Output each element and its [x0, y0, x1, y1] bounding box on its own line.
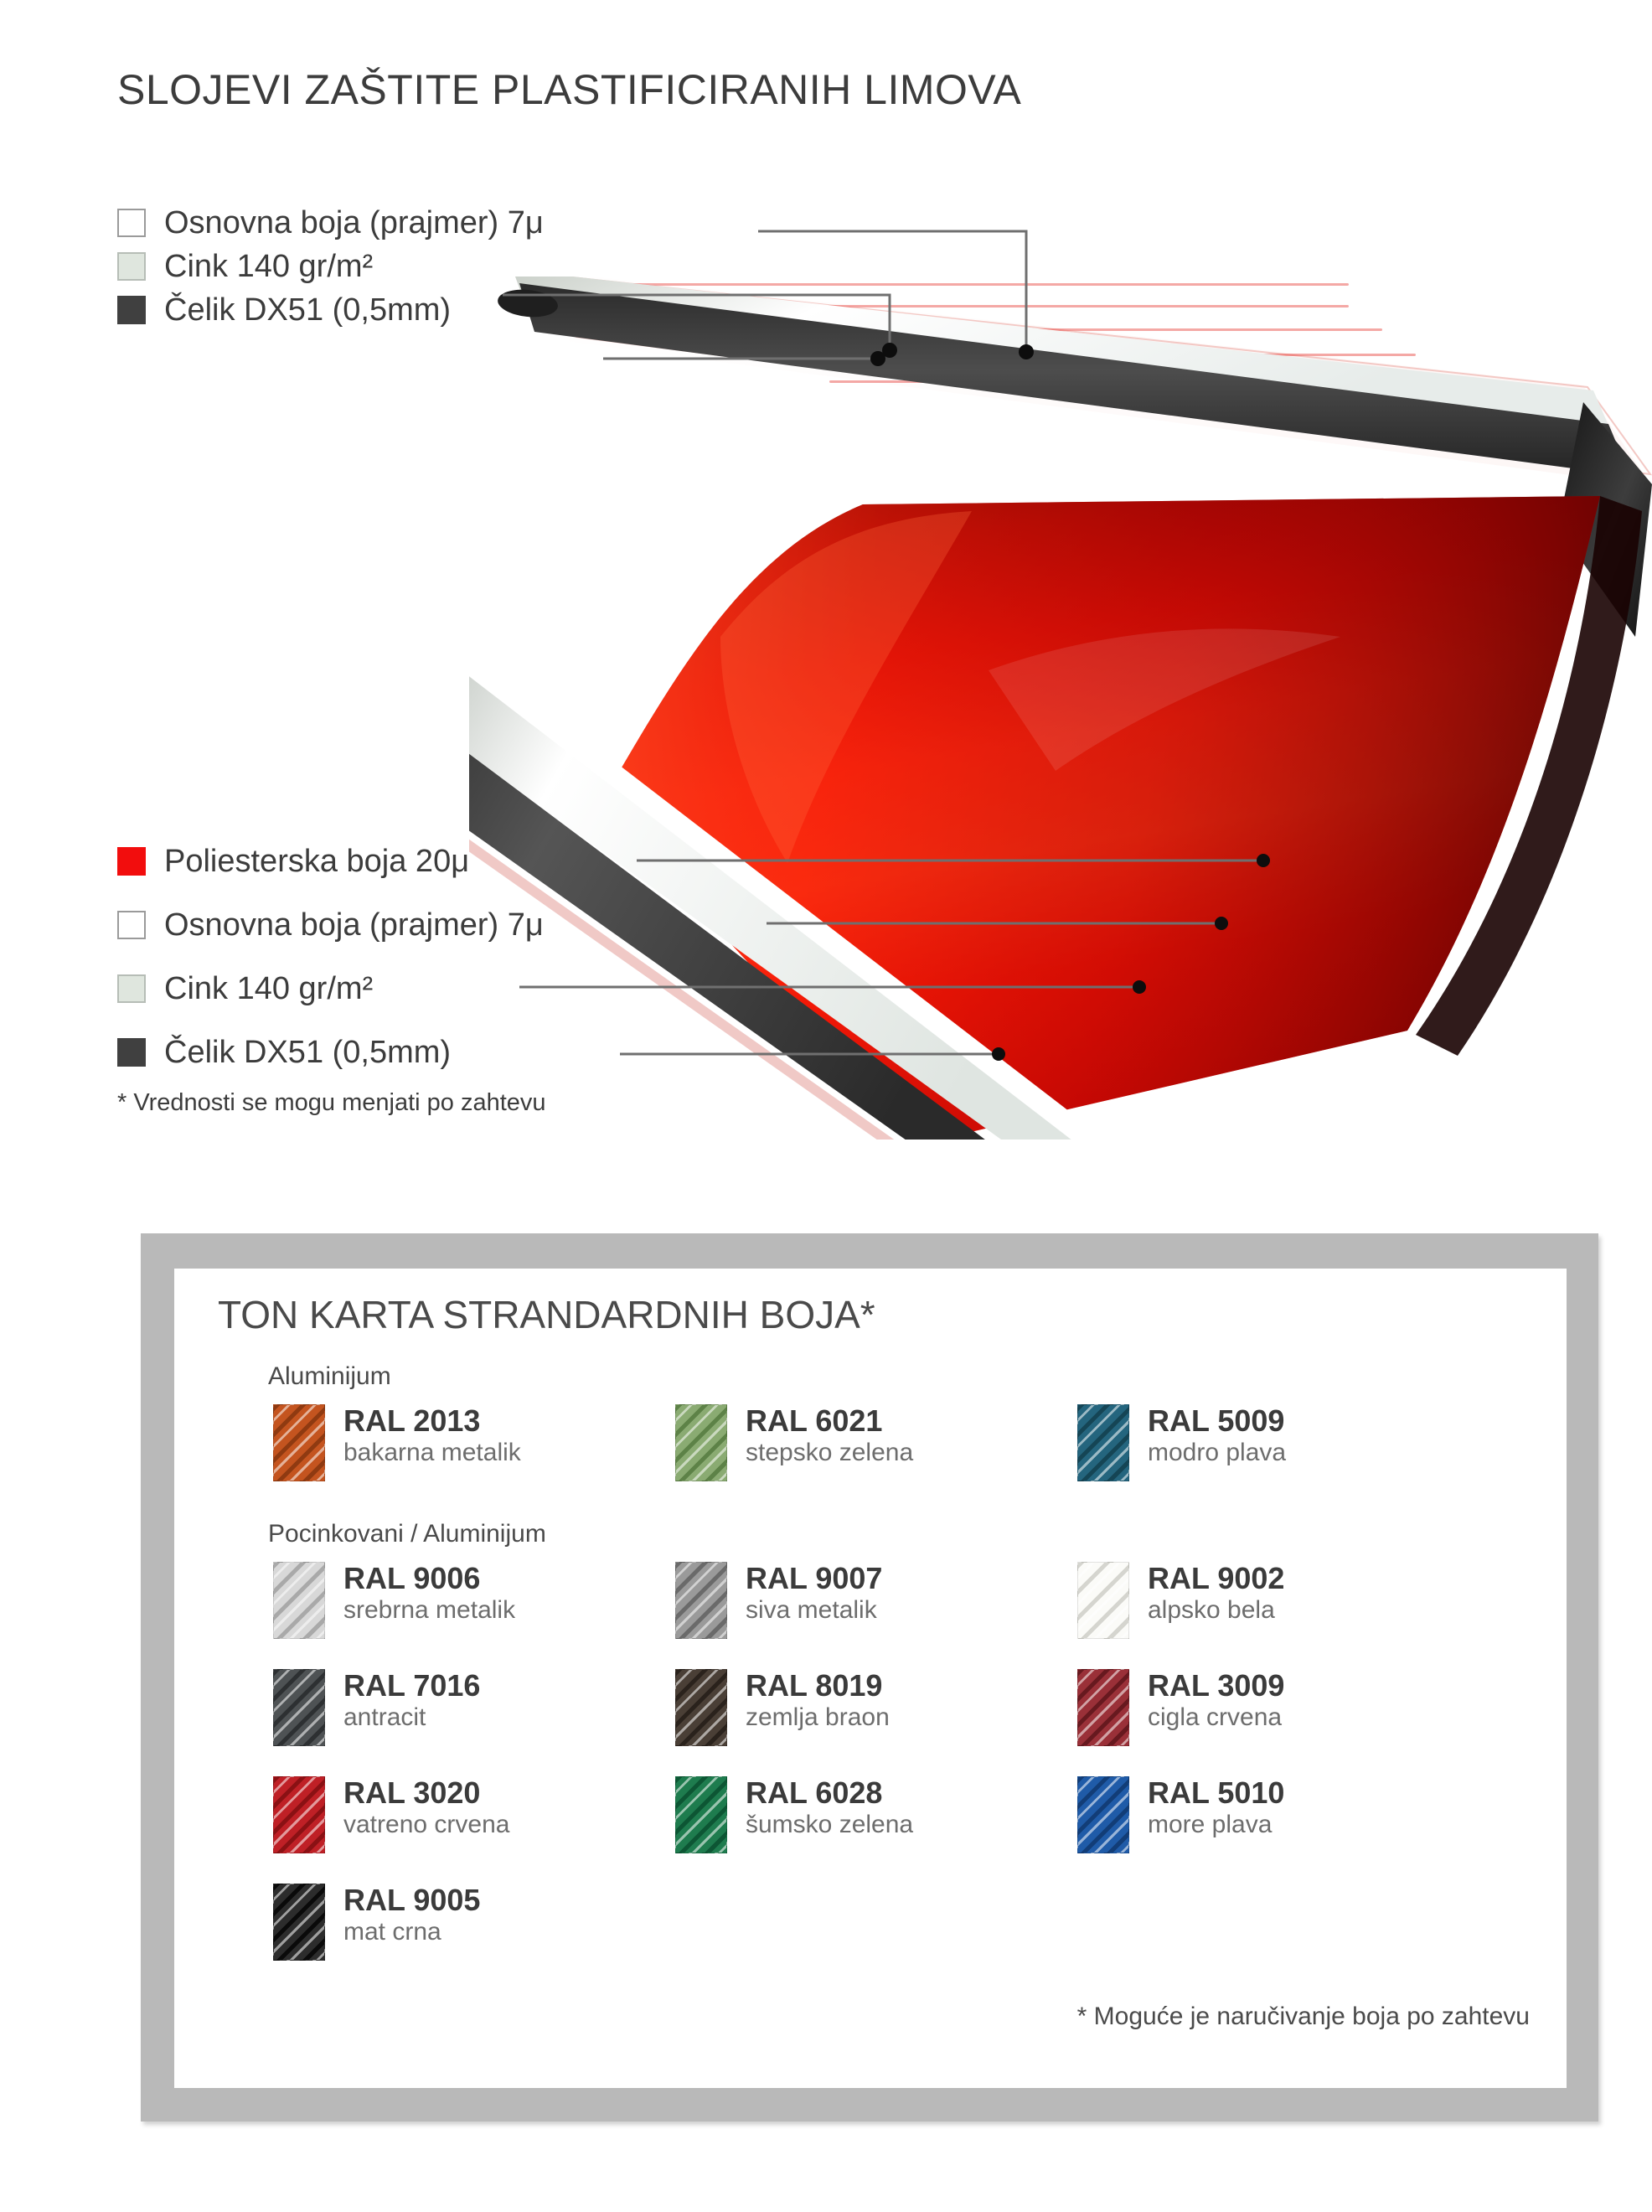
color-chart-panel: TON KARTA STRANDARDNIH BOJA* Aluminijum …	[141, 1233, 1598, 2122]
ral-code: RAL 9005	[343, 1884, 480, 1917]
color-chart-card: TON KARTA STRANDARDNIH BOJA* Aluminijum …	[174, 1269, 1567, 2088]
ral-row: RAL 7016antracitRAL 8019zemlja braonRAL …	[273, 1667, 1541, 1775]
swatch-steel-icon	[117, 1038, 146, 1067]
ral-code: RAL 2013	[343, 1404, 521, 1438]
values-note: * Vrednosti se mogu menjati po zahtevu	[117, 1089, 546, 1117]
ral-text: RAL 9005mat crna	[343, 1882, 480, 1947]
legend-item: Osnovna boja (prajmer) 7μ	[117, 893, 544, 957]
ral-color-chip-icon	[273, 1562, 325, 1639]
ral-description: srebrna metalik	[343, 1595, 515, 1625]
ral-code: RAL 6028	[746, 1776, 913, 1810]
legend-top: Osnovna boja (prajmer) 7μ Cink 140 gr/m²…	[117, 201, 544, 332]
ral-color-chip-icon	[1077, 1404, 1129, 1481]
legend-item: Osnovna boja (prajmer) 7μ	[117, 201, 544, 245]
sheet-metal-illustration	[469, 276, 1652, 1140]
ral-description: vatreno crvena	[343, 1810, 509, 1840]
ral-swatch-item[interactable]: RAL 2013bakarna metalik	[273, 1403, 675, 1510]
ral-description: šumsko zelena	[746, 1810, 913, 1840]
ral-text: RAL 5010more plava	[1148, 1775, 1284, 1840]
ral-text: RAL 3009cigla crvena	[1148, 1667, 1284, 1733]
ral-code: RAL 3009	[1148, 1669, 1284, 1703]
ral-text: RAL 2013bakarna metalik	[343, 1403, 521, 1468]
ral-description: antracit	[343, 1703, 480, 1733]
ral-color-chip-icon	[675, 1562, 727, 1639]
ral-text: RAL 3020vatreno crvena	[343, 1775, 509, 1840]
legend-label: Čelik DX51 (0,5mm)	[164, 1035, 451, 1071]
group-label-aluminium: Aluminijum	[268, 1362, 391, 1391]
legend-item: Čelik DX51 (0,5mm)	[117, 288, 544, 332]
ral-description: modro plava	[1148, 1438, 1286, 1468]
ral-description: alpsko bela	[1148, 1595, 1284, 1625]
legend-bottom: Poliesterska boja 20μ Osnovna boja (praj…	[117, 829, 544, 1084]
legend-label: Poliesterska boja 20μ	[164, 844, 469, 880]
ral-color-chip-icon	[675, 1776, 727, 1853]
ral-color-chip-icon	[273, 1404, 325, 1481]
ral-description: cigla crvena	[1148, 1703, 1284, 1733]
ral-color-chip-icon	[1077, 1776, 1129, 1853]
ral-row: RAL 9005mat crna	[273, 1882, 1541, 1989]
ral-color-chip-icon	[1077, 1562, 1129, 1639]
swatch-primer-icon	[117, 911, 146, 939]
legend-item: Poliesterska boja 20μ	[117, 829, 544, 893]
ral-swatch-item[interactable]: RAL 6021stepsko zelena	[675, 1403, 1077, 1510]
swatch-polyester-icon	[117, 847, 146, 876]
ral-code: RAL 8019	[746, 1669, 890, 1703]
legend-item: Čelik DX51 (0,5mm)	[117, 1021, 544, 1084]
ral-swatch-item[interactable]: RAL 9002alpsko bela	[1077, 1560, 1479, 1667]
ral-swatch-item[interactable]: RAL 5010more plava	[1077, 1775, 1479, 1882]
page-title: SLOJEVI ZAŠTITE PLASTIFICIRANIH LIMOVA	[117, 65, 1021, 114]
ral-text: RAL 9006srebrna metalik	[343, 1560, 515, 1625]
ral-code: RAL 5010	[1148, 1776, 1284, 1810]
ral-description: bakarna metalik	[343, 1438, 521, 1468]
ral-description: more plava	[1148, 1810, 1284, 1840]
ral-swatch-item[interactable]: RAL 8019zemlja braon	[675, 1667, 1077, 1775]
ral-color-chip-icon	[1077, 1669, 1129, 1746]
ral-color-chip-icon	[675, 1404, 727, 1481]
ral-row: RAL 2013bakarna metalikRAL 6021stepsko z…	[273, 1403, 1541, 1510]
ral-code: RAL 5009	[1148, 1404, 1286, 1438]
custom-order-note: * Moguće je naručivanje boja po zahtevu	[1077, 2003, 1530, 2031]
ral-text: RAL 7016antracit	[343, 1667, 480, 1733]
group-label-galvanized: Pocinkovani / Aluminijum	[268, 1520, 546, 1548]
ral-row: RAL 3020vatreno crvenaRAL 6028šumsko zel…	[273, 1775, 1541, 1882]
legend-label: Osnovna boja (prajmer) 7μ	[164, 907, 544, 943]
legend-item: Cink 140 gr/m²	[117, 957, 544, 1021]
swatch-primer-icon	[117, 209, 146, 237]
legend-label: Čelik DX51 (0,5mm)	[164, 292, 451, 328]
ral-code: RAL 3020	[343, 1776, 509, 1810]
ral-text: RAL 6028šumsko zelena	[746, 1775, 913, 1840]
swatch-zinc-icon	[117, 974, 146, 1003]
swatch-steel-icon	[117, 296, 146, 324]
legend-label: Osnovna boja (prajmer) 7μ	[164, 205, 544, 241]
ral-swatch-item[interactable]: RAL 7016antracit	[273, 1667, 675, 1775]
ral-code: RAL 9006	[343, 1562, 515, 1595]
ral-swatch-item[interactable]: RAL 3009cigla crvena	[1077, 1667, 1479, 1775]
ral-description: siva metalik	[746, 1595, 882, 1625]
ral-swatch-item[interactable]: RAL 9007siva metalik	[675, 1560, 1077, 1667]
legend-label: Cink 140 gr/m²	[164, 249, 373, 285]
ral-swatch-item[interactable]: RAL 3020vatreno crvena	[273, 1775, 675, 1882]
ral-text: RAL 8019zemlja braon	[746, 1667, 890, 1733]
ral-text: RAL 9007siva metalik	[746, 1560, 882, 1625]
ral-swatch-item[interactable]: RAL 9006srebrna metalik	[273, 1560, 675, 1667]
legend-label: Cink 140 gr/m²	[164, 971, 373, 1007]
ral-color-chip-icon	[675, 1669, 727, 1746]
ral-text: RAL 6021stepsko zelena	[746, 1403, 913, 1468]
ral-text: RAL 9002alpsko bela	[1148, 1560, 1284, 1625]
ral-code: RAL 9002	[1148, 1562, 1284, 1595]
ral-code: RAL 6021	[746, 1404, 913, 1438]
ral-description: stepsko zelena	[746, 1438, 913, 1468]
ral-description: mat crna	[343, 1917, 480, 1947]
swatch-zinc-icon	[117, 252, 146, 281]
ral-color-chip-icon	[273, 1884, 325, 1961]
legend-item: Cink 140 gr/m²	[117, 245, 544, 288]
ral-swatch-item[interactable]: RAL 5009modro plava	[1077, 1403, 1479, 1510]
ral-swatch-item[interactable]: RAL 6028šumsko zelena	[675, 1775, 1077, 1882]
ral-code: RAL 7016	[343, 1669, 480, 1703]
ral-code: RAL 9007	[746, 1562, 882, 1595]
ral-swatch-item[interactable]: RAL 9005mat crna	[273, 1882, 675, 1989]
color-chart-title: TON KARTA STRANDARDNIH BOJA*	[218, 1292, 875, 1337]
ral-row: RAL 9006srebrna metalikRAL 9007siva meta…	[273, 1560, 1541, 1667]
ral-grid-aluminium: RAL 2013bakarna metalikRAL 6021stepsko z…	[273, 1403, 1541, 1510]
ral-description: zemlja braon	[746, 1703, 890, 1733]
ral-color-chip-icon	[273, 1776, 325, 1853]
ral-color-chip-icon	[273, 1669, 325, 1746]
ral-text: RAL 5009modro plava	[1148, 1403, 1286, 1468]
ral-grid-galvanized: RAL 9006srebrna metalikRAL 9007siva meta…	[273, 1560, 1541, 1989]
